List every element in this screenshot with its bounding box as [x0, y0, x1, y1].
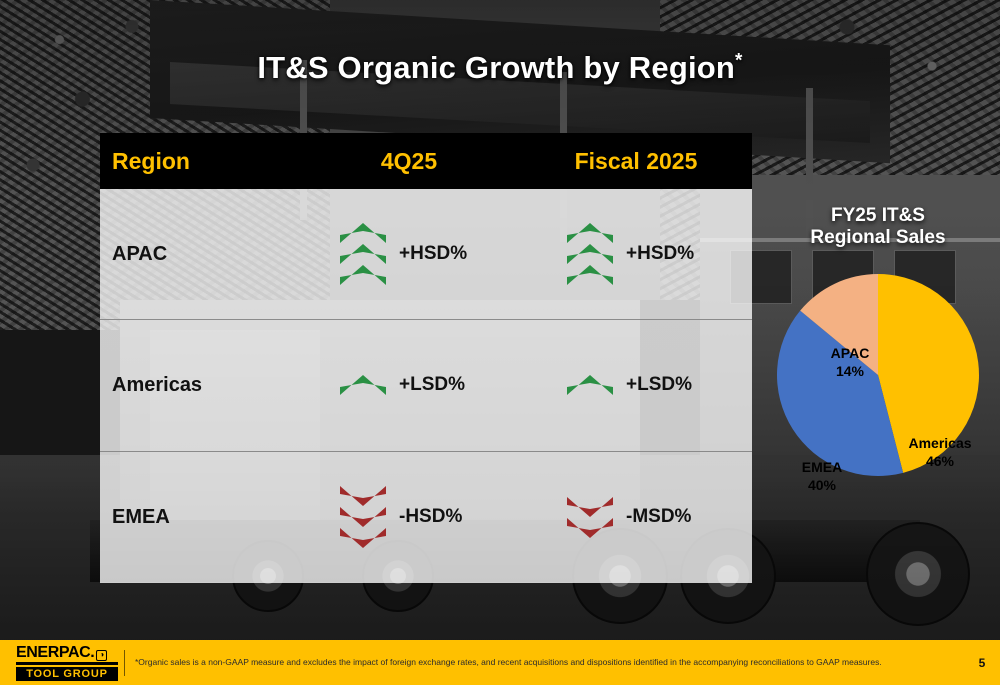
trend-chevrons-up-icon [337, 223, 389, 285]
footer-divider [124, 650, 125, 676]
value-fiscal-2025: +LSD% [626, 374, 708, 396]
value-4q25: +LSD% [399, 374, 481, 396]
cell-4q25: +LSD% [298, 374, 520, 396]
pie-slice-label-emea: EMEA 40% [786, 459, 858, 494]
logo-word-enerpac: ENERPAC. [16, 645, 94, 661]
page-title-asterisk: * [735, 51, 743, 72]
value-fiscal-2025: -MSD% [626, 506, 708, 528]
trend-chevrons-up-icon [337, 375, 389, 395]
chart-title: FY25 IT&S Regional Sales [762, 205, 994, 249]
trend-chevrons-down-icon [337, 486, 389, 548]
table-header-row: Region 4Q25 Fiscal 2025 [100, 133, 752, 189]
value-4q25: +HSD% [399, 243, 481, 265]
cell-region: EMEA [100, 506, 298, 529]
pie-label-americas-value: 46% [894, 453, 986, 471]
cell-4q25: -HSD% [298, 486, 520, 548]
logo-wordmark: ENERPAC. ◑ [16, 645, 118, 665]
page-title-text: IT&S Organic Growth by Region [257, 50, 735, 85]
cell-fiscal-2025: +HSD% [520, 223, 752, 285]
enerpac-mark-icon: ◑ [96, 650, 107, 661]
logo-tool-group: TOOL GROUP [16, 667, 118, 681]
cell-fiscal-2025: -MSD% [520, 497, 752, 538]
value-fiscal-2025: +HSD% [626, 243, 708, 265]
footnote-text: *Organic sales is a non-GAAP measure and… [135, 657, 964, 668]
pie-chart: APAC 14% Americas 46% EMEA 40% [776, 273, 980, 477]
column-header-region: Region [100, 148, 298, 175]
slide-root: IT&S Organic Growth by Region* Region 4Q… [0, 0, 1000, 685]
page-title: IT&S Organic Growth by Region* [0, 50, 1000, 86]
pie-label-americas-name: Americas [894, 435, 986, 453]
enerpac-logo: ENERPAC. ◑ TOOL GROUP [0, 645, 118, 681]
growth-table: Region 4Q25 Fiscal 2025 APAC+HSD%+HSD%Am… [100, 133, 752, 583]
cell-region: APAC [100, 243, 298, 266]
pie-slice-label-apac: APAC 14% [814, 345, 886, 380]
chart-title-line-2: Regional Sales [762, 227, 994, 249]
column-header-fiscal-2025: Fiscal 2025 [520, 148, 752, 175]
regional-sales-chart: FY25 IT&S Regional Sales APAC 14% Americ… [762, 205, 994, 505]
column-header-4q25: 4Q25 [298, 148, 520, 175]
table-body: APAC+HSD%+HSD%Americas+LSD%+LSD%EMEA-HSD… [100, 189, 752, 583]
trend-chevrons-down-icon [564, 497, 616, 538]
table-row: Americas+LSD%+LSD% [100, 320, 752, 451]
table-row: EMEA-HSD%-MSD% [100, 452, 752, 583]
pie-label-apac-value: 14% [814, 363, 886, 381]
value-4q25: -HSD% [399, 506, 481, 528]
cell-region: Americas [100, 374, 298, 397]
cell-fiscal-2025: +LSD% [520, 374, 752, 396]
chart-title-line-1: FY25 IT&S [762, 205, 994, 227]
pie-label-emea-value: 40% [786, 477, 858, 495]
page-number: 5 [964, 656, 1000, 670]
pie-slice-label-americas: Americas 46% [894, 435, 986, 470]
trend-chevrons-up-icon [564, 375, 616, 395]
pie-label-emea-name: EMEA [786, 459, 858, 477]
footer-bar: ENERPAC. ◑ TOOL GROUP *Organic sales is … [0, 640, 1000, 685]
trend-chevrons-up-icon [564, 223, 616, 285]
cell-4q25: +HSD% [298, 223, 520, 285]
pie-label-apac-name: APAC [814, 345, 886, 363]
table-row: APAC+HSD%+HSD% [100, 189, 752, 320]
